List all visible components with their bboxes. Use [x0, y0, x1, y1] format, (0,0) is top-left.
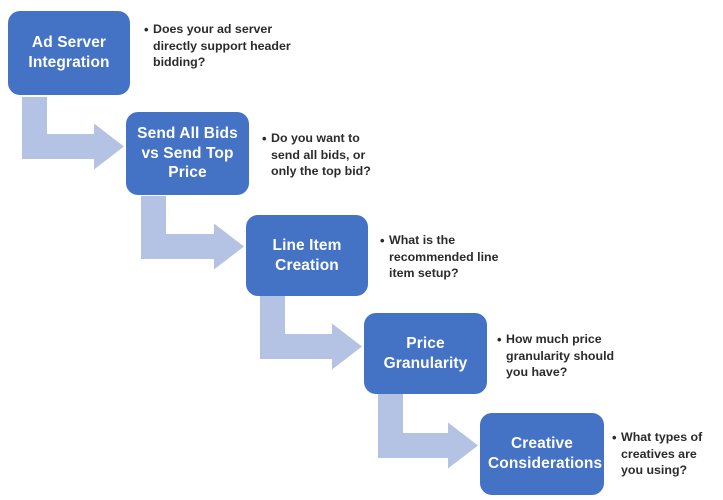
elbow-arrow-connector-3 — [260, 296, 362, 370]
node-ad-server-integration[interactable]: Ad Server Integration — [8, 11, 130, 95]
callout-text: What is the recommended line item setup? — [389, 232, 505, 282]
callout-text: Do you want to send all bids, or only th… — [271, 130, 387, 180]
node-label: Ad Server Integration — [16, 33, 122, 73]
callout-line-item-creation: • What is the recommended line item setu… — [380, 232, 505, 282]
node-label: Send All Bids vs Send Top Price — [134, 124, 241, 183]
node-label: Creative Considerations — [488, 434, 596, 474]
elbow-arrow-connector-1 — [22, 97, 124, 170]
bullet-icon: • — [262, 130, 271, 147]
callout-text: What types of creatives are you using? — [621, 429, 722, 479]
node-line-item-creation[interactable]: Line Item Creation — [246, 215, 368, 296]
bullet-icon: • — [612, 429, 621, 446]
callout-text: How much price granularity should you ha… — [506, 331, 622, 381]
node-label: Line Item Creation — [254, 236, 360, 276]
callout-ad-server-integration: • Does your ad server directly support h… — [144, 21, 294, 71]
callout-send-all-bids-vs-send-top-price: • Do you want to send all bids, or only … — [262, 130, 387, 180]
flowchart-canvas: Ad Server Integration • Does your ad ser… — [0, 0, 723, 500]
callout-text: Does your ad server directly support hea… — [153, 21, 294, 71]
node-creative-considerations[interactable]: Creative Considerations — [480, 413, 604, 495]
node-label: Price Granularity — [372, 334, 479, 374]
bullet-icon: • — [144, 21, 153, 38]
bullet-icon: • — [497, 331, 506, 348]
elbow-arrow-connector-2 — [141, 196, 244, 270]
bullet-icon: • — [380, 232, 389, 249]
elbow-arrow-connector-4 — [378, 394, 478, 469]
node-price-granularity[interactable]: Price Granularity — [364, 313, 487, 394]
callout-creative-considerations: • What types of creatives are you using? — [612, 429, 722, 479]
callout-price-granularity: • How much price granularity should you … — [497, 331, 622, 381]
node-send-all-bids-vs-send-top-price[interactable]: Send All Bids vs Send Top Price — [126, 112, 249, 195]
